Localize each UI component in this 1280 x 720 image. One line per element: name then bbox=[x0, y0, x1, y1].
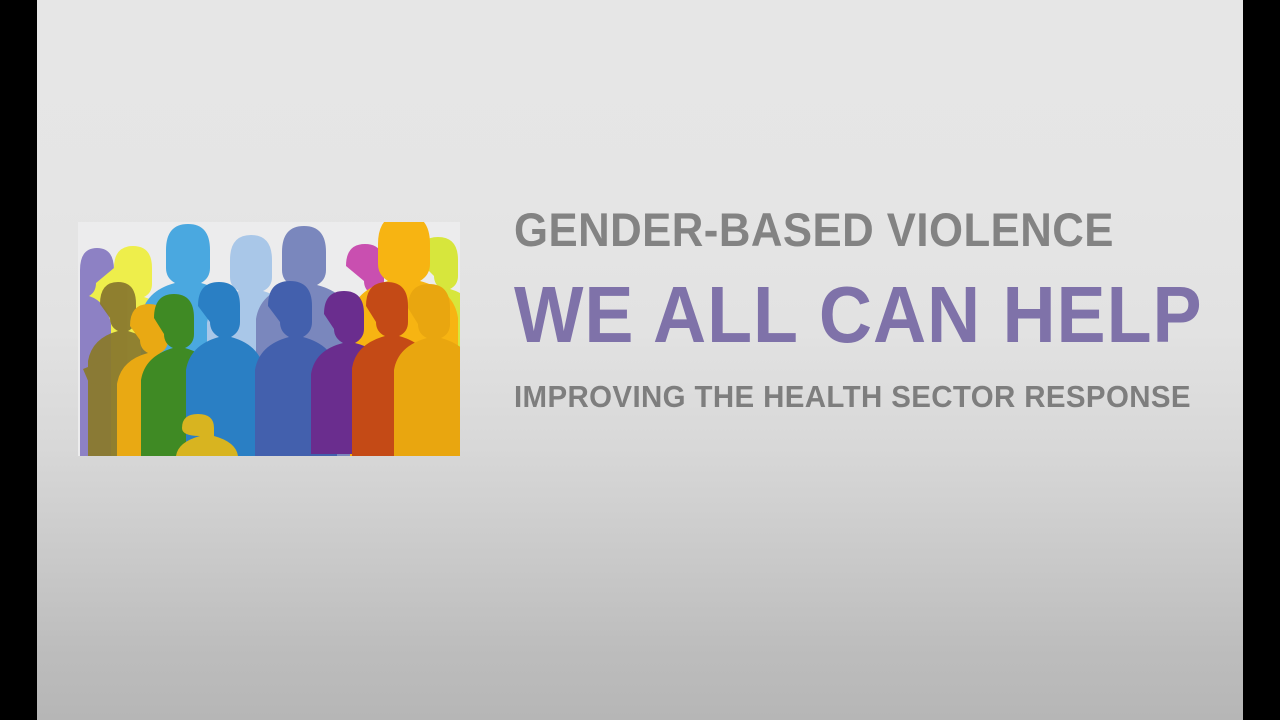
title-text-block: GENDER-BASED VIOLENCE WE ALL CAN HELP IM… bbox=[514, 206, 1194, 412]
eyebrow-heading: GENDER-BASED VIOLENCE bbox=[514, 206, 1146, 253]
pillarbox-left bbox=[0, 0, 37, 720]
pillarbox-right bbox=[1243, 0, 1280, 720]
title-card-slide: GENDER-BASED VIOLENCE WE ALL CAN HELP IM… bbox=[37, 0, 1243, 720]
crowd-silhouette-illustration bbox=[78, 222, 460, 456]
video-frame: GENDER-BASED VIOLENCE WE ALL CAN HELP IM… bbox=[0, 0, 1280, 720]
main-heading: WE ALL CAN HELP bbox=[514, 275, 1140, 355]
sub-heading: IMPROVING THE HEALTH SECTOR RESPONSE bbox=[514, 381, 1160, 412]
crowd-silhouette-svg bbox=[78, 222, 460, 456]
